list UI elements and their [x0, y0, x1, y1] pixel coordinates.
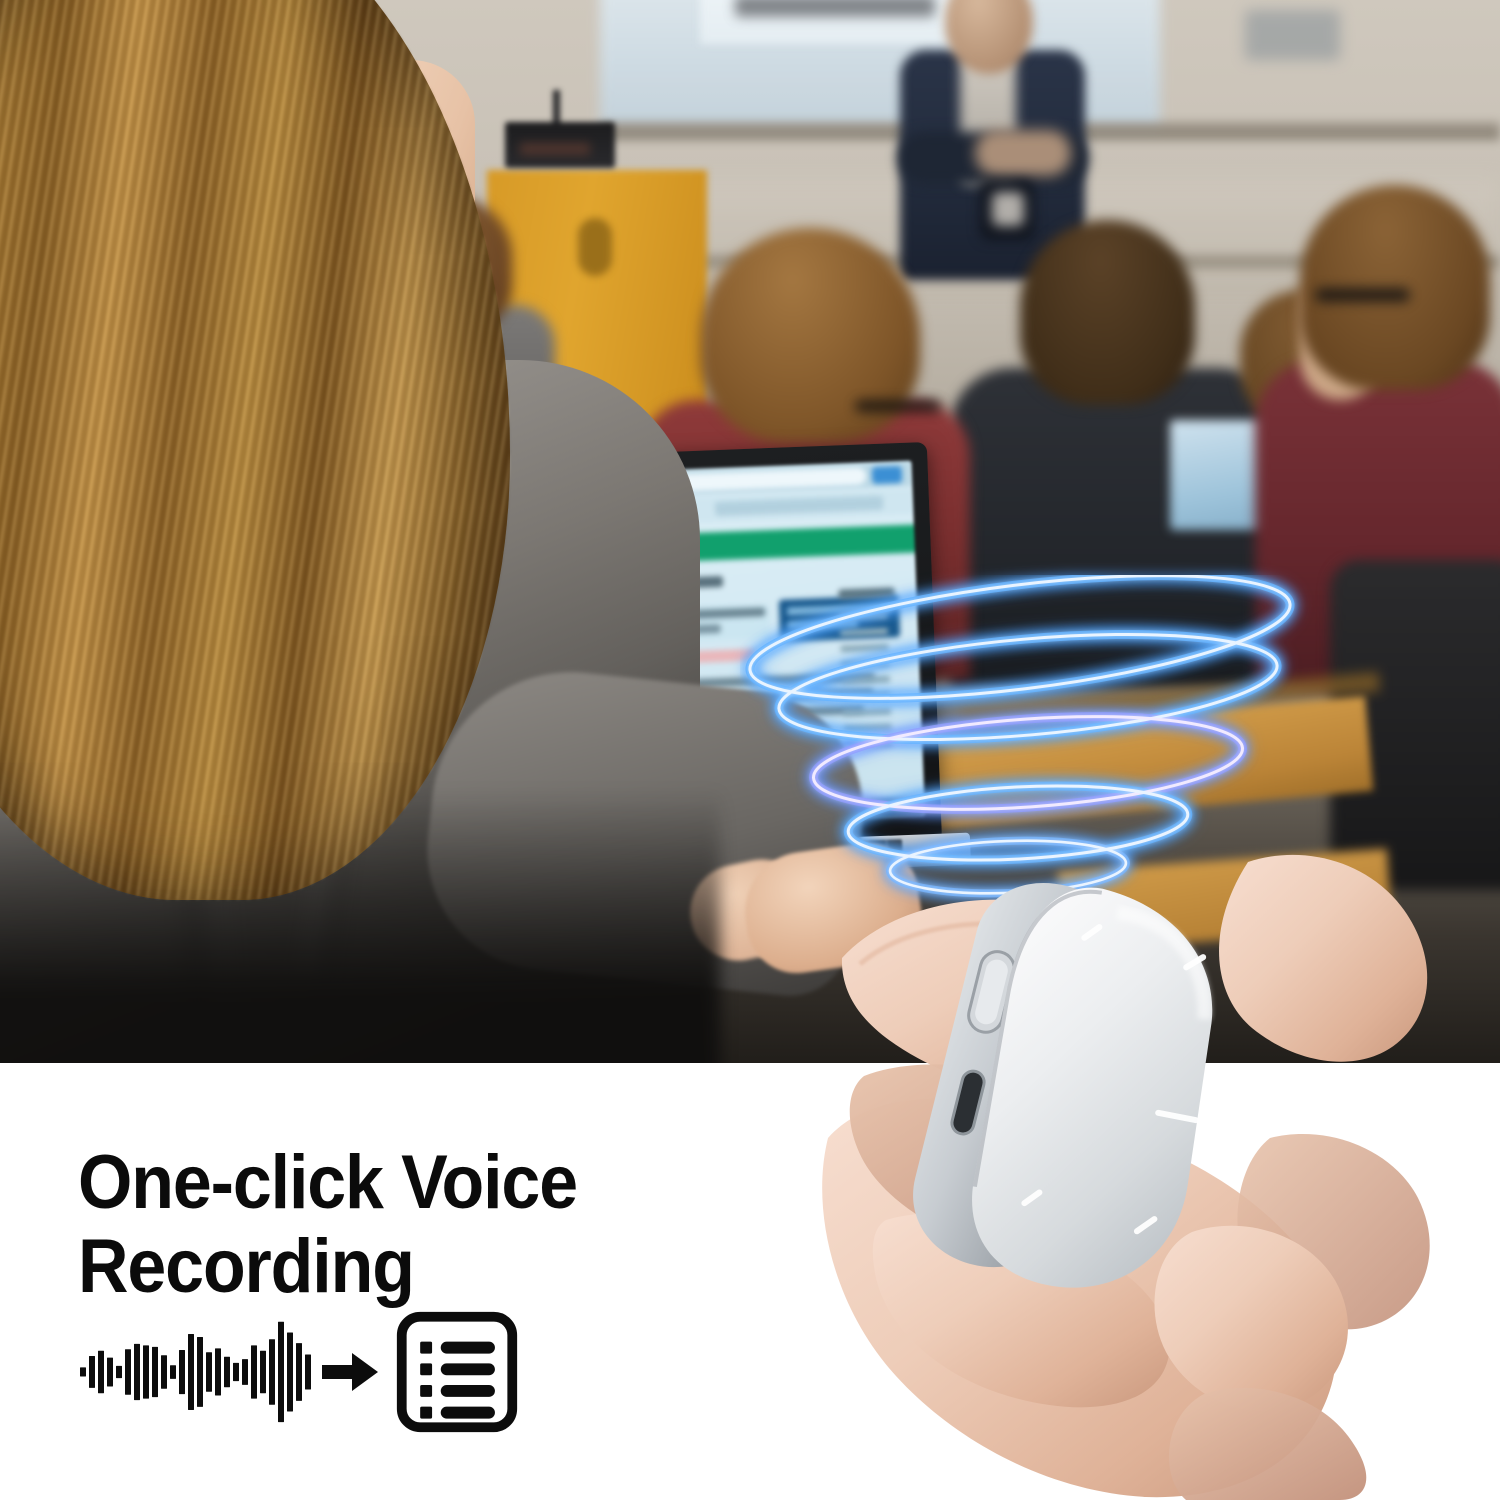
waveform-bar [107, 1358, 113, 1387]
waveform-bar [278, 1322, 284, 1422]
waveform-bar [287, 1333, 293, 1412]
waveform-bar [179, 1350, 185, 1394]
product-feature-image: One-click Voice Recording [0, 0, 1500, 1500]
projector-slide-chart [1245, 10, 1340, 60]
waveform-bar [197, 1337, 203, 1407]
page-title: One-click Voice Recording [78, 1141, 722, 1308]
waveform-bar [215, 1348, 221, 1395]
waveform-bar [89, 1356, 95, 1388]
arrow-right-icon [312, 1342, 388, 1402]
waveform-bar [242, 1359, 248, 1385]
student-2-glasses [855, 400, 941, 412]
waveform-bar [98, 1351, 104, 1394]
waveform-bar [233, 1363, 239, 1381]
hand-holding-recorder [800, 838, 1460, 1500]
waveform-bar [305, 1355, 311, 1390]
document-list-icon [392, 1307, 522, 1437]
waveform-bar [116, 1366, 122, 1378]
waveform-bar [269, 1339, 275, 1404]
waveform-bar [224, 1357, 230, 1387]
lectern-monitor-glow [520, 143, 590, 155]
waveform-bar [296, 1343, 302, 1401]
headline-line-1: One-click Voice [78, 1140, 577, 1225]
lectern-emblem [578, 218, 612, 276]
voice-to-text-icon-row [80, 1296, 522, 1448]
waveform-bar [206, 1352, 212, 1392]
waveform-bar [152, 1347, 158, 1397]
thumb [1219, 855, 1427, 1062]
waveform-bar [161, 1355, 167, 1388]
presenter-hands [975, 130, 1071, 176]
waveform-bar [170, 1365, 176, 1379]
waveform-bar [134, 1344, 140, 1400]
waveform-bar [125, 1349, 131, 1395]
woman-hair-strands [0, 0, 510, 900]
waveform-bar [260, 1351, 266, 1394]
student-3-head [1020, 220, 1195, 405]
student-4-glasses [1315, 288, 1410, 302]
projector-slide-text [735, 0, 935, 17]
presenter-badge-card [992, 192, 1024, 226]
lower-knuckle [1169, 1388, 1366, 1500]
waveform-bar [143, 1345, 149, 1398]
waveform-bar [188, 1334, 194, 1410]
waveform-bar [80, 1367, 86, 1376]
waveform-icon [80, 1296, 312, 1448]
browser-go-button[interactable] [872, 466, 903, 484]
waveform-bar [251, 1345, 257, 1398]
